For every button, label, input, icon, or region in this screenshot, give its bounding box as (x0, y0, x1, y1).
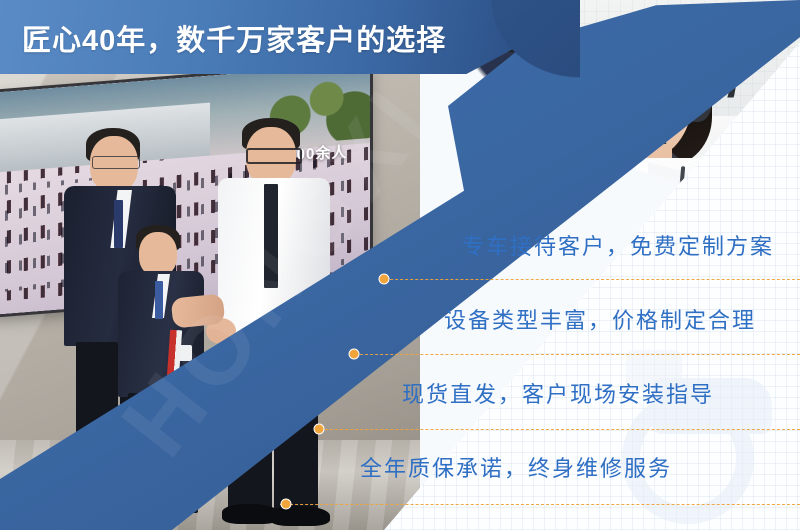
shoe-left (122, 507, 170, 524)
feature-label: 全年质保承诺，终身维修服务 (360, 451, 672, 483)
feature-label: 专车接待客户，免费定制方案 (462, 229, 774, 261)
trouser-right (164, 393, 198, 513)
feature-label: 现货直发，客户现场安装指导 (402, 377, 714, 409)
glasses-icon (246, 148, 302, 164)
feature-divider (350, 354, 800, 355)
trouser-left (128, 393, 162, 511)
divider-dot (349, 349, 360, 360)
feature-divider (315, 429, 800, 430)
handshake-gesture (171, 293, 226, 328)
feature-divider (280, 504, 800, 505)
trouser-left (76, 342, 118, 502)
feature-item[interactable]: 现货直发，客户现场安装指导 (280, 363, 800, 437)
necktie (155, 281, 163, 319)
headset-earcup (682, 78, 712, 122)
promo-banner: 2300余人 online employees HOT (0, 0, 800, 530)
divider-dot (379, 274, 390, 285)
lips (634, 124, 658, 134)
divider-dot (281, 499, 292, 510)
feature-list: 专车接待客户，免费定制方案 设备类型丰富，价格制定合理 现货直发，客户现场安装指… (280, 215, 800, 515)
feature-label: 设备类型丰富，价格制定合理 (444, 303, 756, 335)
glasses-icon (92, 156, 140, 169)
head (139, 232, 177, 276)
header-curve-accent (452, 0, 580, 112)
feature-item[interactable]: 专车接待客户，免费定制方案 (280, 215, 800, 289)
feature-item[interactable]: 全年质保承诺，终身维修服务 (280, 437, 800, 511)
divider-dot (314, 424, 325, 435)
trouser-left (228, 342, 272, 510)
page-title: 匠心40年，数千万家客户的选择 (22, 17, 446, 59)
feature-divider (380, 279, 800, 280)
necktie (264, 184, 278, 288)
